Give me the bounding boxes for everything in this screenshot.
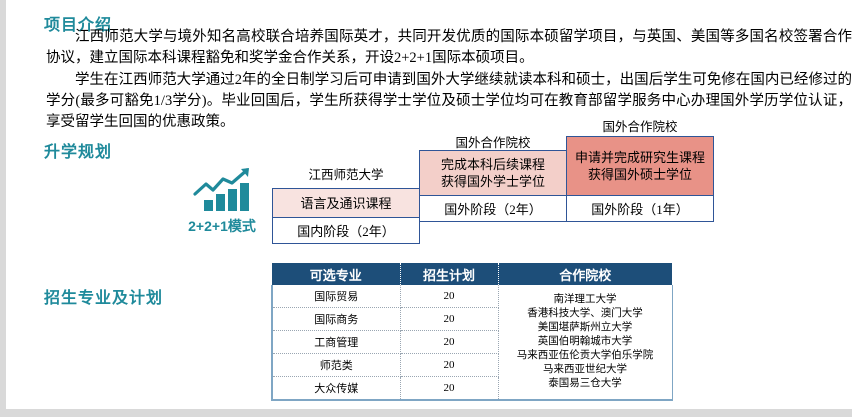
- cell-partner-schools: 南洋理工大学 香港科技大学、澳门大学 美国堪萨斯州立大学 英国伯明翰城市大学 马…: [498, 285, 672, 400]
- school-name: 泰国易三仓大学: [499, 377, 672, 391]
- stage-overseas-bachelor: 国外合作院校 完成本科后续课程 获得国外学士学位 国外阶段（2年）: [419, 128, 567, 222]
- stage-body-line-2-2: 获得国外学士学位: [441, 173, 545, 190]
- majors-table-head: 可选专业 招生计划 合作院校: [272, 263, 672, 285]
- cell-plan: 20: [400, 308, 498, 331]
- stage-body-2: 完成本科后续课程 获得国外学士学位: [419, 150, 567, 196]
- stage-domestic: 江西师范大学 语言及通识课程 国内阶段（2年）: [272, 150, 420, 244]
- stage-body-line-2-1: 完成本科后续课程: [441, 156, 545, 173]
- stage-body-1: 语言及通识课程: [272, 188, 420, 218]
- column-header-major: 可选专业: [272, 263, 400, 285]
- stage-footer-3: 国外阶段（1年）: [566, 196, 714, 222]
- cell-plan: 20: [400, 377, 498, 401]
- stage-caption-3: 国外合作院校: [566, 114, 714, 136]
- section-title-majors: 招生专业及计划: [44, 284, 163, 308]
- stage-footer-1: 国内阶段（2年）: [272, 218, 420, 244]
- stage-overseas-master: 国外合作院校 申请并完成研究生课程 获得国外硕士学位 国外阶段（1年）: [566, 114, 714, 222]
- school-name: 马来西亚伍伦贡大学伯乐学院: [499, 349, 672, 363]
- majors-table-wrapper: 可选专业 招生计划 合作院校 国际贸易 20 南洋理工大学 香港科技大学、澳门大…: [271, 263, 671, 401]
- school-name: 马来西亚世纪大学: [499, 363, 672, 377]
- section-title-plan: 升学规划: [44, 138, 112, 162]
- cell-plan: 20: [400, 354, 498, 377]
- majors-table: 可选专业 招生计划 合作院校 国际贸易 20 南洋理工大学 香港科技大学、澳门大…: [271, 263, 673, 401]
- stage-body-line-1-1: 语言及通识课程: [300, 195, 391, 212]
- stage-caption-2: 国外合作院校: [419, 128, 567, 150]
- slide-content: 项目介绍 江西师范大学与境外知名高校联合培养国际英才，共同开发优质的国际本硕留学…: [6, 0, 852, 409]
- school-name: 香港科技大学、澳门大学: [499, 307, 672, 321]
- bar-chart-trend-icon: [191, 168, 253, 212]
- school-name: 南洋理工大学: [499, 293, 672, 307]
- stage-footer-2: 国外阶段（2年）: [419, 196, 567, 222]
- stage-caption-1: 江西师范大学: [272, 150, 420, 188]
- school-name: 美国堪萨斯州立大学: [499, 321, 672, 335]
- stage-body-line-3-2: 获得国外硕士学位: [588, 166, 692, 183]
- column-header-schools: 合作院校: [498, 263, 672, 285]
- school-name: 英国伯明翰城市大学: [499, 335, 672, 349]
- stage-body-3: 申请并完成研究生课程 获得国外硕士学位: [566, 136, 714, 196]
- stage-body-line-3-1: 申请并完成研究生课程: [575, 149, 705, 166]
- cell-major: 师范类: [272, 354, 400, 377]
- progression-diagram: 2+2+1模式 江西师范大学 语言及通识课程 国内阶段（2年） 国外合作院校 完…: [169, 128, 709, 246]
- cell-major: 工商管理: [272, 331, 400, 354]
- column-header-plan: 招生计划: [400, 263, 498, 285]
- intro-paragraph-1: 江西师范大学与境外知名高校联合培养国际英才，共同开发优质的国际本硕留学项目，与英…: [46, 27, 852, 69]
- mode-label: 2+2+1模式: [174, 216, 270, 236]
- cell-major: 国际贸易: [272, 285, 400, 308]
- cell-plan: 20: [400, 285, 498, 308]
- slide-page: 项目介绍 江西师范大学与境外知名高校联合培养国际英才，共同开发优质的国际本硕留学…: [0, 0, 852, 417]
- table-header-row: 可选专业 招生计划 合作院校: [272, 263, 672, 285]
- intro-paragraph-2: 学生在江西师范大学通过2年的全日制学习后可申请到国外大学继续就读本科和硕士，出国…: [46, 70, 852, 133]
- table-row: 国际贸易 20 南洋理工大学 香港科技大学、澳门大学 美国堪萨斯州立大学 英国伯…: [272, 285, 672, 308]
- cell-major: 国际商务: [272, 308, 400, 331]
- cell-plan: 20: [400, 331, 498, 354]
- cell-major: 大众传媒: [272, 377, 400, 401]
- majors-table-body: 国际贸易 20 南洋理工大学 香港科技大学、澳门大学 美国堪萨斯州立大学 英国伯…: [272, 285, 672, 400]
